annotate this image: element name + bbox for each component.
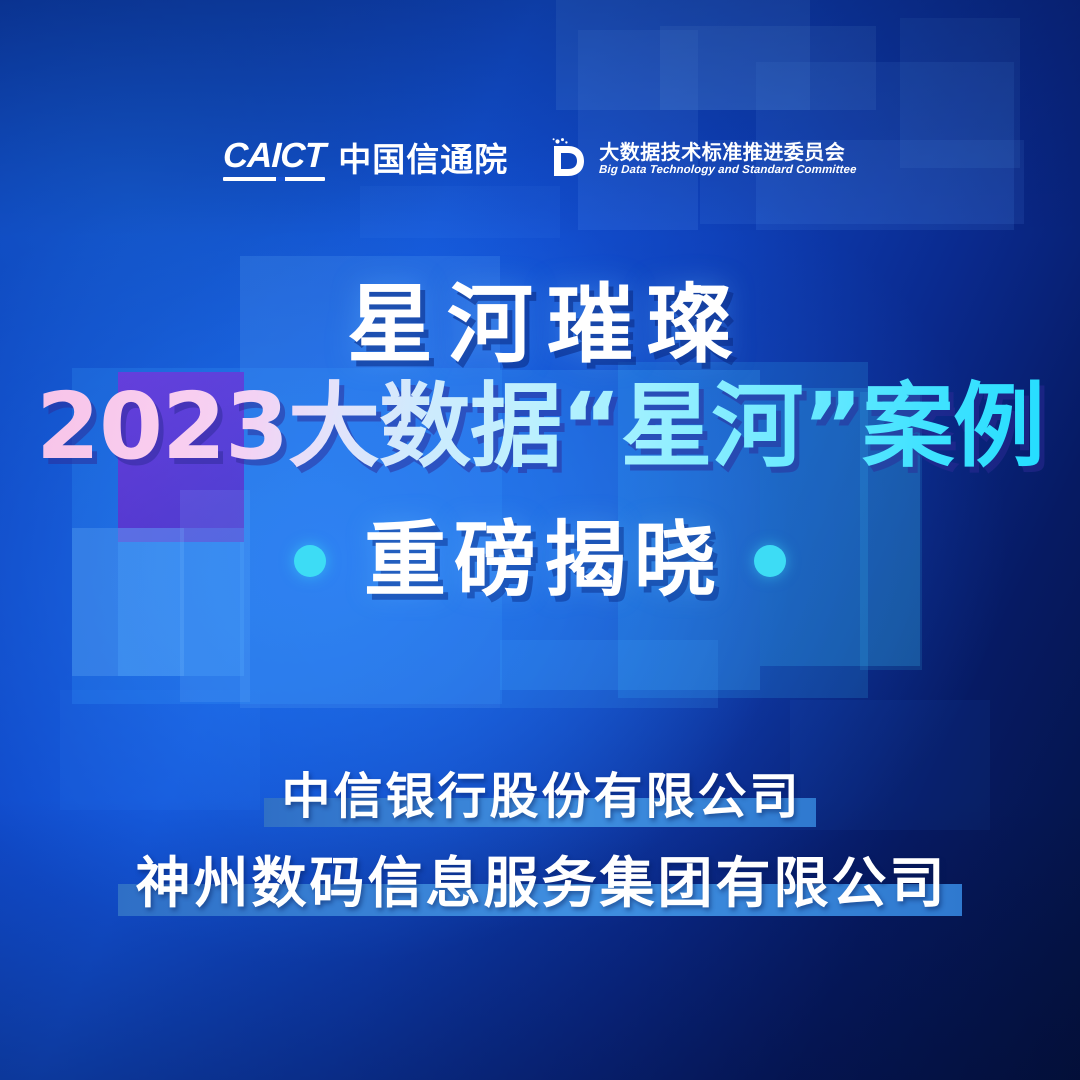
title-line-1: 星河璀璨 bbox=[0, 282, 1080, 368]
bullet-dot-right-icon bbox=[754, 545, 786, 577]
company-name: 中信银行股份有限公司 bbox=[270, 770, 809, 825]
poster-canvas: CAICT 中国信通院 大数据技术标准推进委员会 Big Data Techno… bbox=[0, 0, 1080, 1080]
bdtc-logo: 大数据技术标准推进委员会 Big Data Technology and Sta… bbox=[544, 136, 856, 182]
company-row: 神州数码信息服务集团有限公司 bbox=[124, 853, 955, 915]
caict-wordmark-block: CAICT bbox=[223, 138, 325, 181]
caict-logo: CAICT 中国信通院 bbox=[223, 138, 508, 181]
bdtc-d-mark-icon bbox=[544, 136, 588, 182]
caict-chinese-name: 中国信通院 bbox=[338, 143, 508, 176]
title-line-2: 2023大数据“星河”案例 bbox=[30, 378, 1050, 476]
bdtc-english-name: Big Data Technology and Standard Committ… bbox=[599, 165, 857, 177]
company-name: 神州数码信息服务集团有限公司 bbox=[124, 853, 955, 915]
bdtc-text-block: 大数据技术标准推进委员会 Big Data Technology and Sta… bbox=[599, 142, 856, 177]
caict-wordmark: CAICT bbox=[223, 138, 326, 173]
title-line-3: 重磅揭晓 bbox=[356, 520, 724, 602]
bullet-dot-left-icon bbox=[294, 545, 326, 577]
company-list: 中信银行股份有限公司 神州数码信息服务集团有限公司 bbox=[0, 770, 1080, 914]
title-line-3-row: 重磅揭晓 bbox=[0, 520, 1080, 602]
company-row: 中信银行股份有限公司 bbox=[270, 770, 809, 825]
header-logo-row: CAICT 中国信通院 大数据技术标准推进委员会 Big Data Techno… bbox=[0, 136, 1080, 182]
bdtc-chinese-name: 大数据技术标准推进委员会 bbox=[599, 142, 856, 162]
caict-underline bbox=[223, 177, 325, 181]
main-title-block: 星河璀璨 2023大数据“星河”案例 重磅揭晓 bbox=[0, 282, 1080, 602]
